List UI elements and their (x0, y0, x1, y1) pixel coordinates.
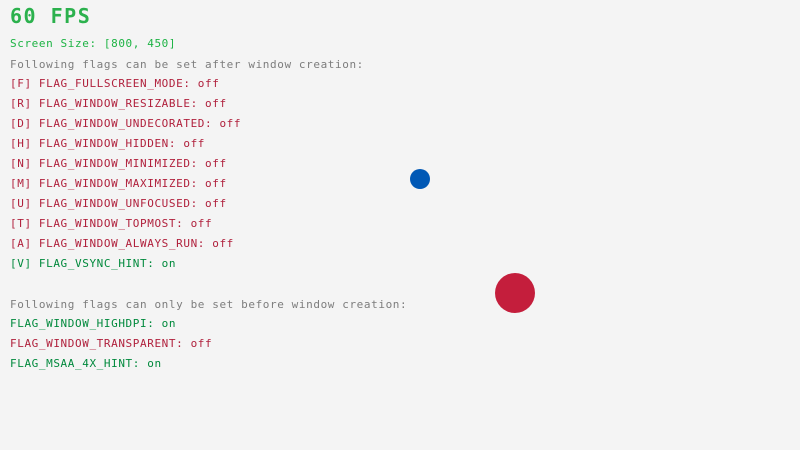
flag-line-flag-window-highdpi[interactable]: FLAG_WINDOW_HIGHDPI: on (10, 318, 176, 329)
flag-line-flag-msaa-4x-hint[interactable]: FLAG_MSAA_4X_HINT: on (10, 358, 162, 369)
flag-line-flag-window-maximized[interactable]: [M] FLAG_WINDOW_MAXIMIZED: off (10, 178, 227, 189)
red-ball (495, 273, 535, 313)
flag-line-flag-window-unfocused[interactable]: [U] FLAG_WINDOW_UNFOCUSED: off (10, 198, 227, 209)
flag-line-flag-window-hidden[interactable]: [H] FLAG_WINDOW_HIDDEN: off (10, 138, 205, 149)
flag-line-flag-window-topmost[interactable]: [T] FLAG_WINDOW_TOPMOST: off (10, 218, 212, 229)
flag-line-flag-window-resizable[interactable]: [R] FLAG_WINDOW_RESIZABLE: off (10, 98, 227, 109)
flag-line-flag-vsync-hint[interactable]: [V] FLAG_VSYNC_HINT: on (10, 258, 176, 269)
flag-line-flag-window-transparent[interactable]: FLAG_WINDOW_TRANSPARENT: off (10, 338, 212, 349)
flag-line-flag-window-undecorated[interactable]: [D] FLAG_WINDOW_UNDECORATED: off (10, 118, 241, 129)
section-header-after-creation: Following flags can be set after window … (10, 59, 364, 70)
app-canvas[interactable]: 60 FPS Screen Size: [800, 450] Following… (0, 0, 800, 450)
flag-line-flag-fullscreen-mode[interactable]: [F] FLAG_FULLSCREEN_MODE: off (10, 78, 219, 89)
flag-line-flag-window-always-run[interactable]: [A] FLAG_WINDOW_ALWAYS_RUN: off (10, 238, 234, 249)
flag-line-flag-window-minimized[interactable]: [N] FLAG_WINDOW_MINIMIZED: off (10, 158, 227, 169)
blue-ball (410, 169, 430, 189)
section-header-before-creation: Following flags can only be set before w… (10, 299, 407, 310)
fps-counter: 60 FPS (10, 6, 91, 26)
screen-size-label: Screen Size: [800, 450] (10, 38, 176, 49)
